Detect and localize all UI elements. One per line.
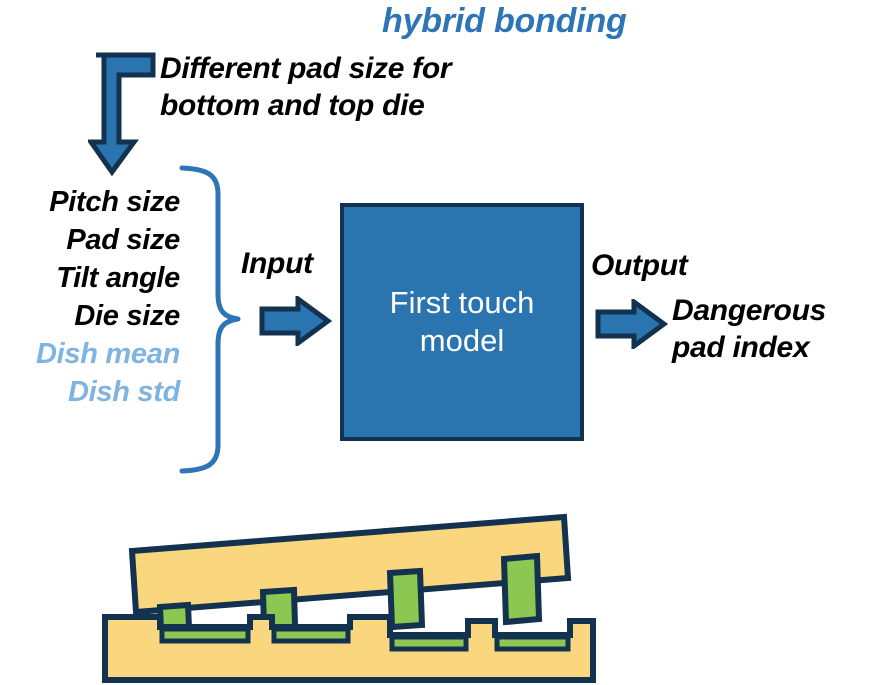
top-pad-3 xyxy=(390,571,422,627)
bottom-pad-2 xyxy=(274,629,348,641)
input-grouping-brace xyxy=(176,164,248,481)
die-cross-section-illustration xyxy=(100,495,640,685)
output-value-line1: Dangerous xyxy=(672,293,876,330)
callout-note: Different pad size for bottom and top di… xyxy=(160,50,540,124)
model-box-label-line1: First touch xyxy=(390,284,535,322)
input-parameter-list: Pitch size Pad size Tilt angle Die size … xyxy=(0,184,180,412)
output-value-line2: pad index xyxy=(672,330,876,367)
callout-note-line2: bottom and top die xyxy=(160,87,540,124)
output-label: Output xyxy=(591,249,688,283)
first-touch-model-box[interactable]: First touch model xyxy=(340,203,584,441)
bottom-pad-3 xyxy=(392,637,466,649)
callout-note-line1: Different pad size for xyxy=(160,50,540,87)
parameter-item-dish-mean: Dish mean xyxy=(0,336,180,374)
output-arrow-icon xyxy=(594,299,668,354)
input-label: Input xyxy=(241,247,313,281)
page-title: hybrid bonding xyxy=(382,2,682,41)
parameter-item-pitch-size: Pitch size xyxy=(0,184,180,222)
hybrid-bonding-diagram: hybrid bonding Different pad size for bo… xyxy=(0,0,876,685)
parameter-item-die-size: Die size xyxy=(0,298,180,336)
bottom-pad-1 xyxy=(162,629,248,641)
model-box-label-line2: model xyxy=(390,322,535,360)
parameter-item-tilt-angle: Tilt angle xyxy=(0,260,180,298)
top-pad-4 xyxy=(504,556,539,622)
parameter-item-dish-std: Dish std xyxy=(0,374,180,412)
input-arrow-icon xyxy=(258,296,332,351)
output-value: Dangerous pad index xyxy=(672,293,876,366)
parameter-item-pad-size: Pad size xyxy=(0,222,180,260)
model-box-label: First touch model xyxy=(376,284,549,360)
bottom-pad-4 xyxy=(497,637,568,649)
bottom-die-group xyxy=(105,617,593,680)
